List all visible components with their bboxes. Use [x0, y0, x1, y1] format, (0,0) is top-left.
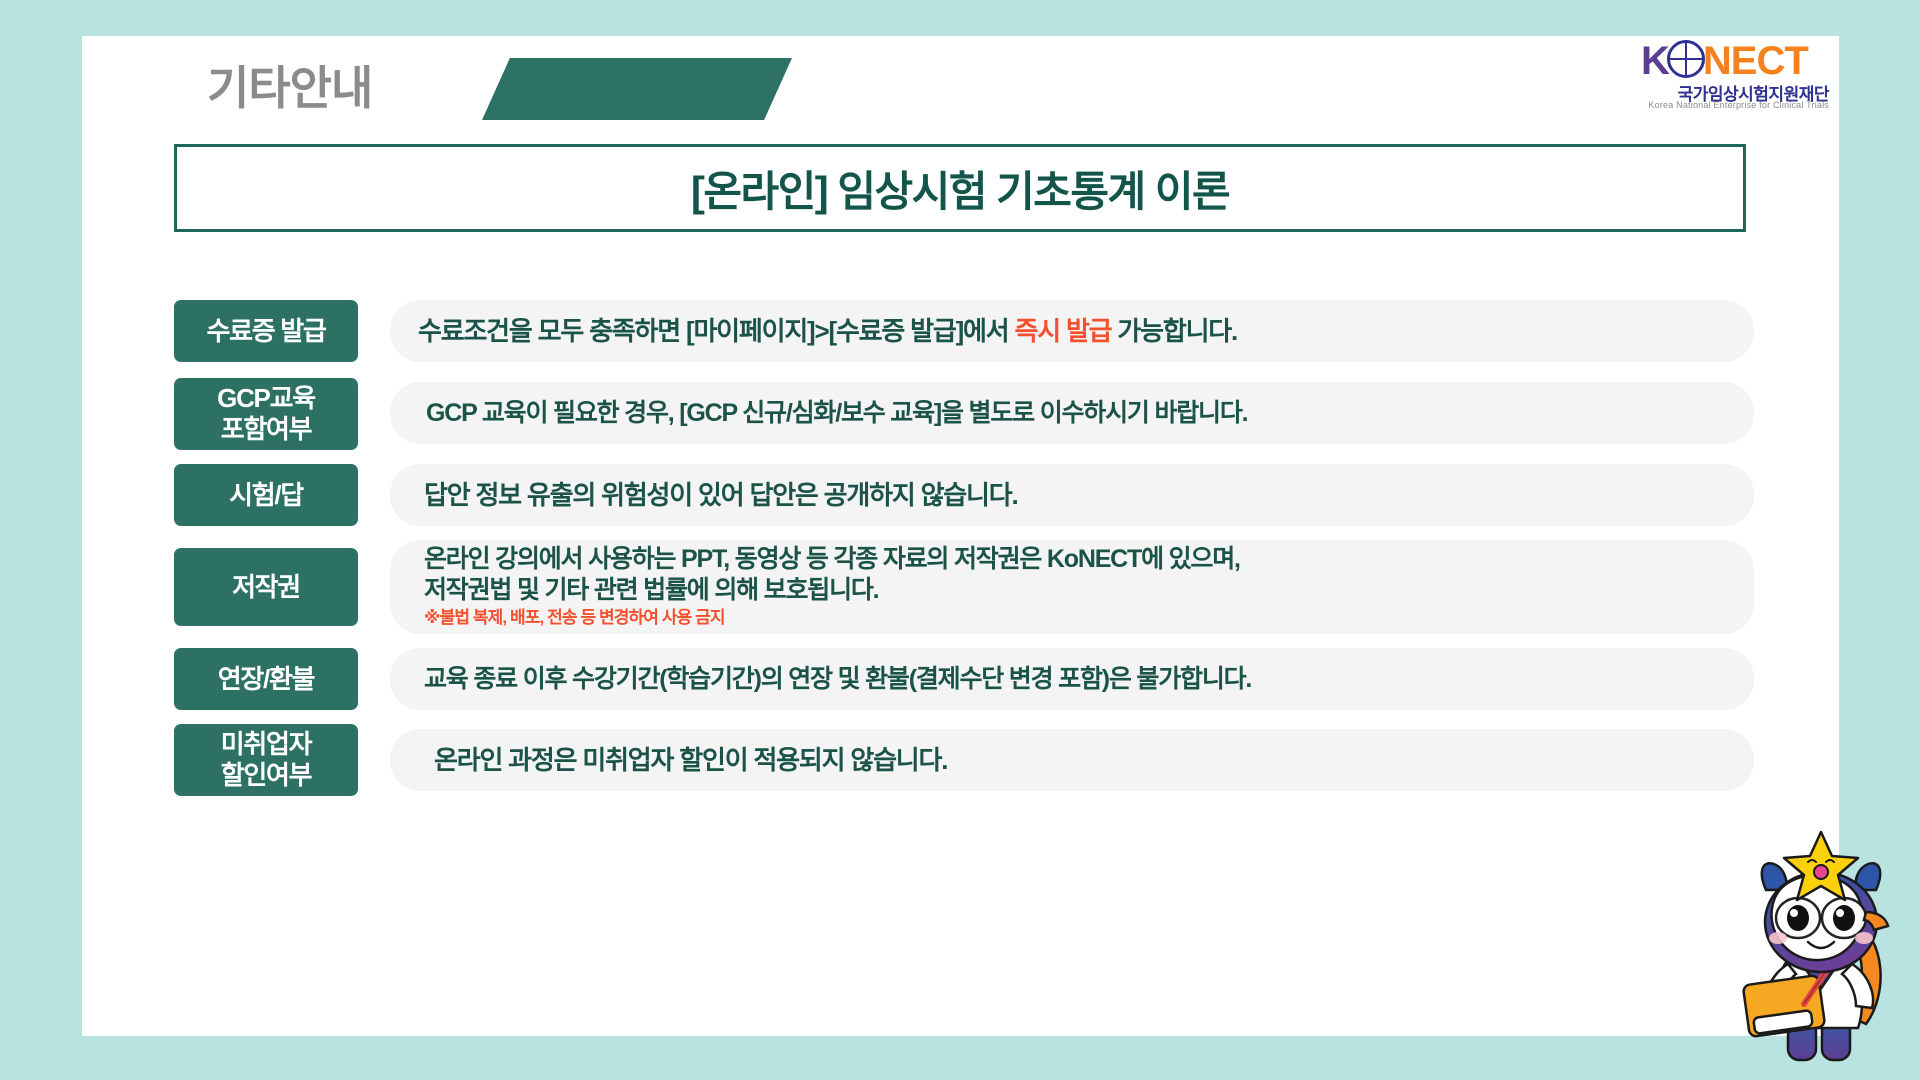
row-label-extension-refund: 연장/환불	[174, 648, 358, 710]
row-body-copyright: 온라인 강의에서 사용하는 PPT, 동영상 등 각종 자료의 저작권은 KoN…	[390, 540, 1754, 634]
info-row-gcp: GCP교육 포함여부 GCP 교육이 필요한 경우, [GCP 신규/심화/보수…	[174, 376, 1754, 450]
row-label-line: 할인여부	[221, 760, 311, 791]
row-label-gcp: GCP교육 포함여부	[174, 378, 358, 450]
row-label-line: 미취업자	[221, 729, 311, 760]
info-row-certificate: 수료증 발급 수료조건을 모두 충족하면 [마이페이지]>[수료증 발급]에서 …	[174, 300, 1754, 362]
page-header: 기타안내	[82, 36, 1839, 148]
row-label-line: GCP교육	[217, 383, 315, 414]
row-label-line: 포함여부	[221, 414, 311, 445]
globe-icon	[1667, 40, 1705, 78]
row-body-extension-refund: 교육 종료 이후 수강기간(학습기간)의 연장 및 환불(결제수단 변경 포함)…	[390, 648, 1754, 710]
row-text-gcp: GCP 교육이 필요한 경우, [GCP 신규/심화/보수 교육]을 별도로 이…	[426, 397, 1720, 430]
info-row-exam: 시험/답 답안 정보 유출의 위험성이 있어 답안은 공개하지 않습니다.	[174, 464, 1754, 526]
info-rows: 수료증 발급 수료조건을 모두 충족하면 [마이페이지]>[수료증 발급]에서 …	[174, 300, 1754, 810]
konect-logo: KNECT 국가임상시험지원재단 Korea National Enterpri…	[1633, 38, 1833, 116]
row-body-gcp: GCP 교육이 필요한 경우, [GCP 신규/심화/보수 교육]을 별도로 이…	[390, 382, 1754, 444]
row-body-exam: 답안 정보 유출의 위험성이 있어 답안은 공개하지 않습니다.	[390, 464, 1754, 526]
course-title: [온라인] 임상시험 기초통계 이론	[691, 158, 1229, 219]
info-row-copyright: 저작권 온라인 강의에서 사용하는 PPT, 동영상 등 각종 자료의 저작권은…	[174, 540, 1754, 634]
info-row-unemployed-discount: 미취업자 할인여부 온라인 과정은 미취업자 할인이 적용되지 않습니다.	[174, 724, 1754, 796]
course-title-box: [온라인] 임상시험 기초통계 이론	[174, 144, 1746, 232]
row-note-copyright: ※불법 복제, 배포, 전송 등 변경하여 사용 금지	[424, 607, 1720, 629]
row-body-unemployed-discount: 온라인 과정은 미취업자 할인이 적용되지 않습니다.	[390, 729, 1754, 791]
row-label-exam: 시험/답	[174, 464, 358, 526]
page-card: 기타안내 KNECT 국가임상시험지원재단 Korea National Ent…	[82, 36, 1839, 1036]
row-text-highlight: 즉시 발급	[1015, 316, 1112, 346]
logo-wordmark: KNECT	[1641, 40, 1808, 81]
konect-mascot	[1736, 828, 1908, 1080]
row-text-part: 수료조건을 모두 충족하면 [마이페이지]>[수료증 발급]에서	[418, 316, 1015, 346]
row-text-exam: 답안 정보 유출의 위험성이 있어 답안은 공개하지 않습니다.	[424, 478, 1720, 512]
row-label-certificate: 수료증 발급	[174, 300, 358, 362]
row-label-line: 시험/답	[229, 480, 303, 511]
row-text-copyright-line1: 온라인 강의에서 사용하는 PPT, 동영상 등 각종 자료의 저작권은 KoN…	[424, 544, 1720, 575]
row-text-extension-refund: 교육 종료 이후 수강기간(학습기간)의 연장 및 환불(결제수단 변경 포함)…	[424, 663, 1720, 696]
page-title: 기타안내	[207, 62, 372, 115]
row-body-certificate: 수료조건을 모두 충족하면 [마이페이지]>[수료증 발급]에서 즉시 발급 가…	[390, 300, 1754, 362]
row-text-copyright-line2: 저작권법 및 기타 관련 법률에 의해 보호됩니다.	[424, 575, 1720, 606]
logo-letters-nect: NECT	[1703, 39, 1808, 83]
row-label-copyright: 저작권	[174, 548, 358, 626]
row-label-line: 저작권	[232, 572, 300, 603]
row-label-unemployed-discount: 미취업자 할인여부	[174, 724, 358, 796]
row-text-unemployed-discount: 온라인 과정은 미취업자 할인이 적용되지 않습니다.	[434, 743, 1720, 777]
row-text-part: 가능합니다.	[1111, 316, 1237, 346]
row-label-line: 연장/환불	[218, 664, 314, 695]
logo-english-name: Korea National Enterprise for Clinical T…	[1648, 100, 1829, 110]
header-tab-shape	[482, 58, 792, 120]
row-label-line: 수료증 발급	[206, 316, 325, 347]
logo-letter-k: K	[1641, 39, 1669, 83]
info-row-extension-refund: 연장/환불 교육 종료 이후 수강기간(학습기간)의 연장 및 환불(결제수단 …	[174, 648, 1754, 710]
row-text-certificate: 수료조건을 모두 충족하면 [마이페이지]>[수료증 발급]에서 즉시 발급 가…	[418, 314, 1720, 348]
